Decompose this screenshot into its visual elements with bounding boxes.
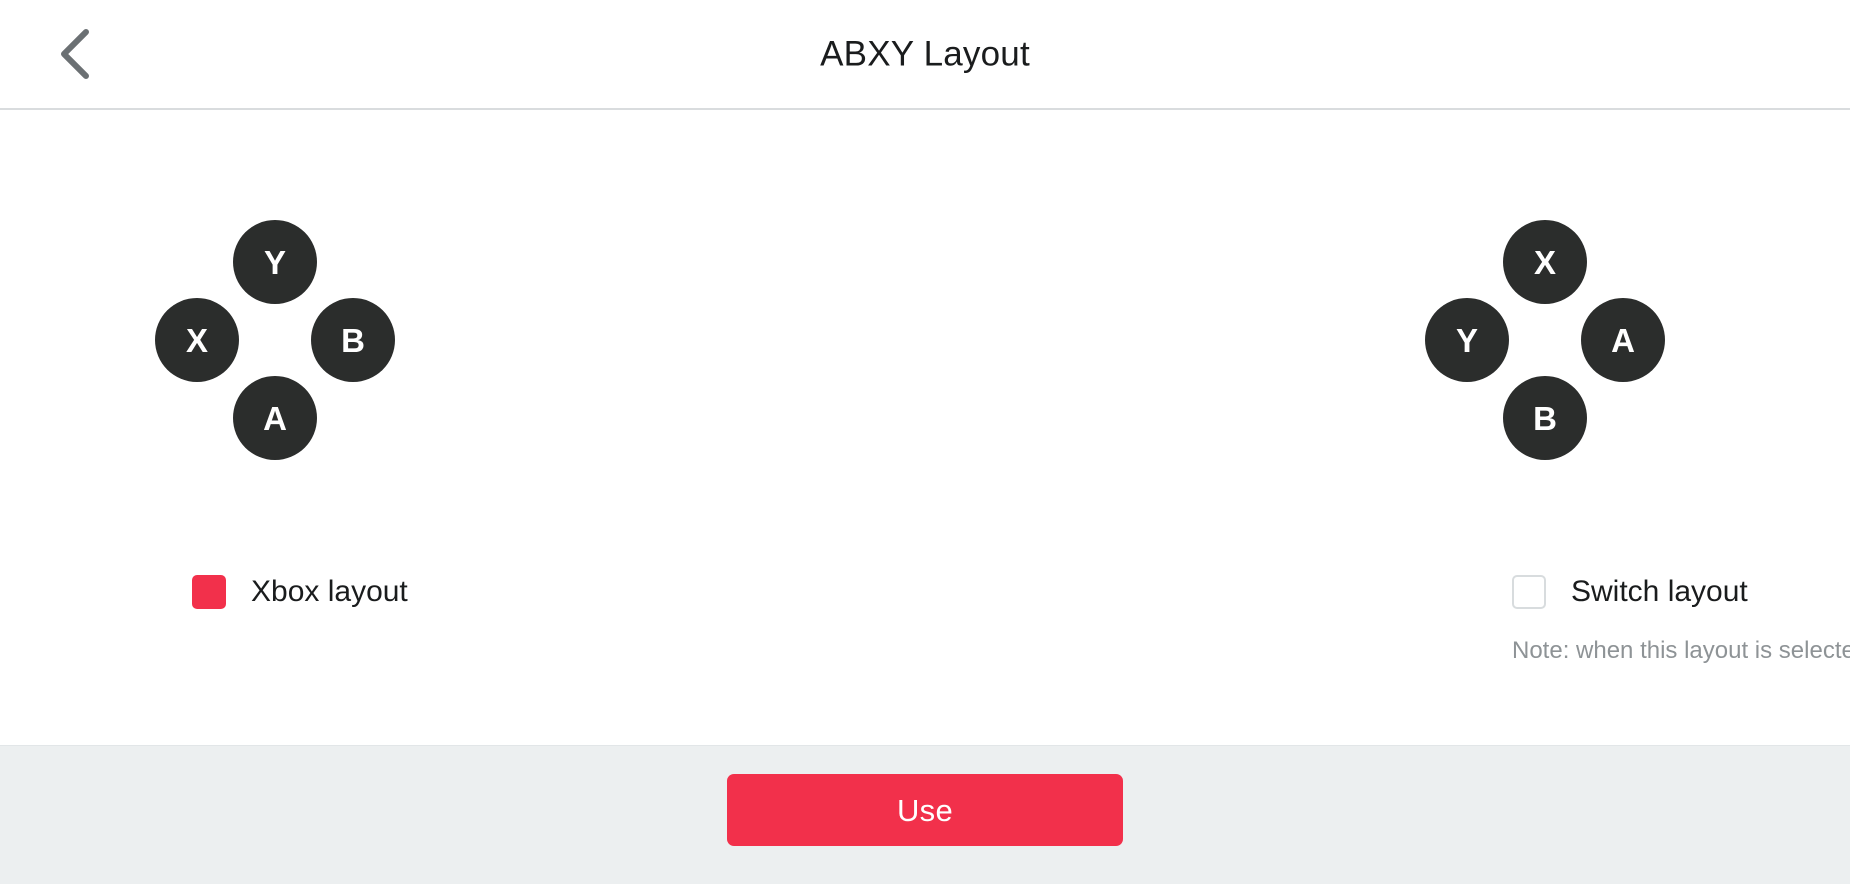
layout-option-switch: X Y A B Switch layout Note: when this la… [760, 110, 1850, 460]
pad-button-top: Y [233, 220, 317, 304]
abxy-cluster-switch: X Y A B [1425, 220, 1665, 460]
switch-layout-note: Note: when this layout is selected, the … [1512, 635, 1850, 667]
pad-button-right: A [1581, 298, 1665, 382]
pad-button-left: X [155, 298, 239, 382]
option-label-switch: Switch layout [1571, 577, 1748, 607]
pad-button-bottom: A [233, 376, 317, 460]
option-row-switch[interactable]: Switch layout [1512, 575, 1748, 609]
page-title: ABXY Layout [0, 37, 1850, 72]
header-bar: ABXY Layout [0, 0, 1850, 110]
abxy-layout-screen: ABXY Layout Y X B A Xbox layout [0, 0, 1850, 884]
option-row-xbox[interactable]: Xbox layout [192, 575, 408, 609]
layout-option-xbox: Y X B A Xbox layout [0, 110, 760, 460]
pad-button-top: X [1503, 220, 1587, 304]
content-area: Y X B A Xbox layout X Y A B [0, 110, 1850, 745]
option-label-xbox: Xbox layout [251, 577, 408, 607]
layout-options-row: Y X B A Xbox layout X Y A B [0, 110, 1850, 460]
footer-bar: Use [0, 745, 1850, 884]
checkbox-xbox-layout[interactable] [192, 575, 226, 609]
use-button[interactable]: Use [727, 774, 1123, 846]
checkbox-switch-layout[interactable] [1512, 575, 1546, 609]
pad-button-left: Y [1425, 298, 1509, 382]
pad-button-bottom: B [1503, 376, 1587, 460]
pad-button-right: B [311, 298, 395, 382]
abxy-cluster-xbox: Y X B A [155, 220, 395, 460]
